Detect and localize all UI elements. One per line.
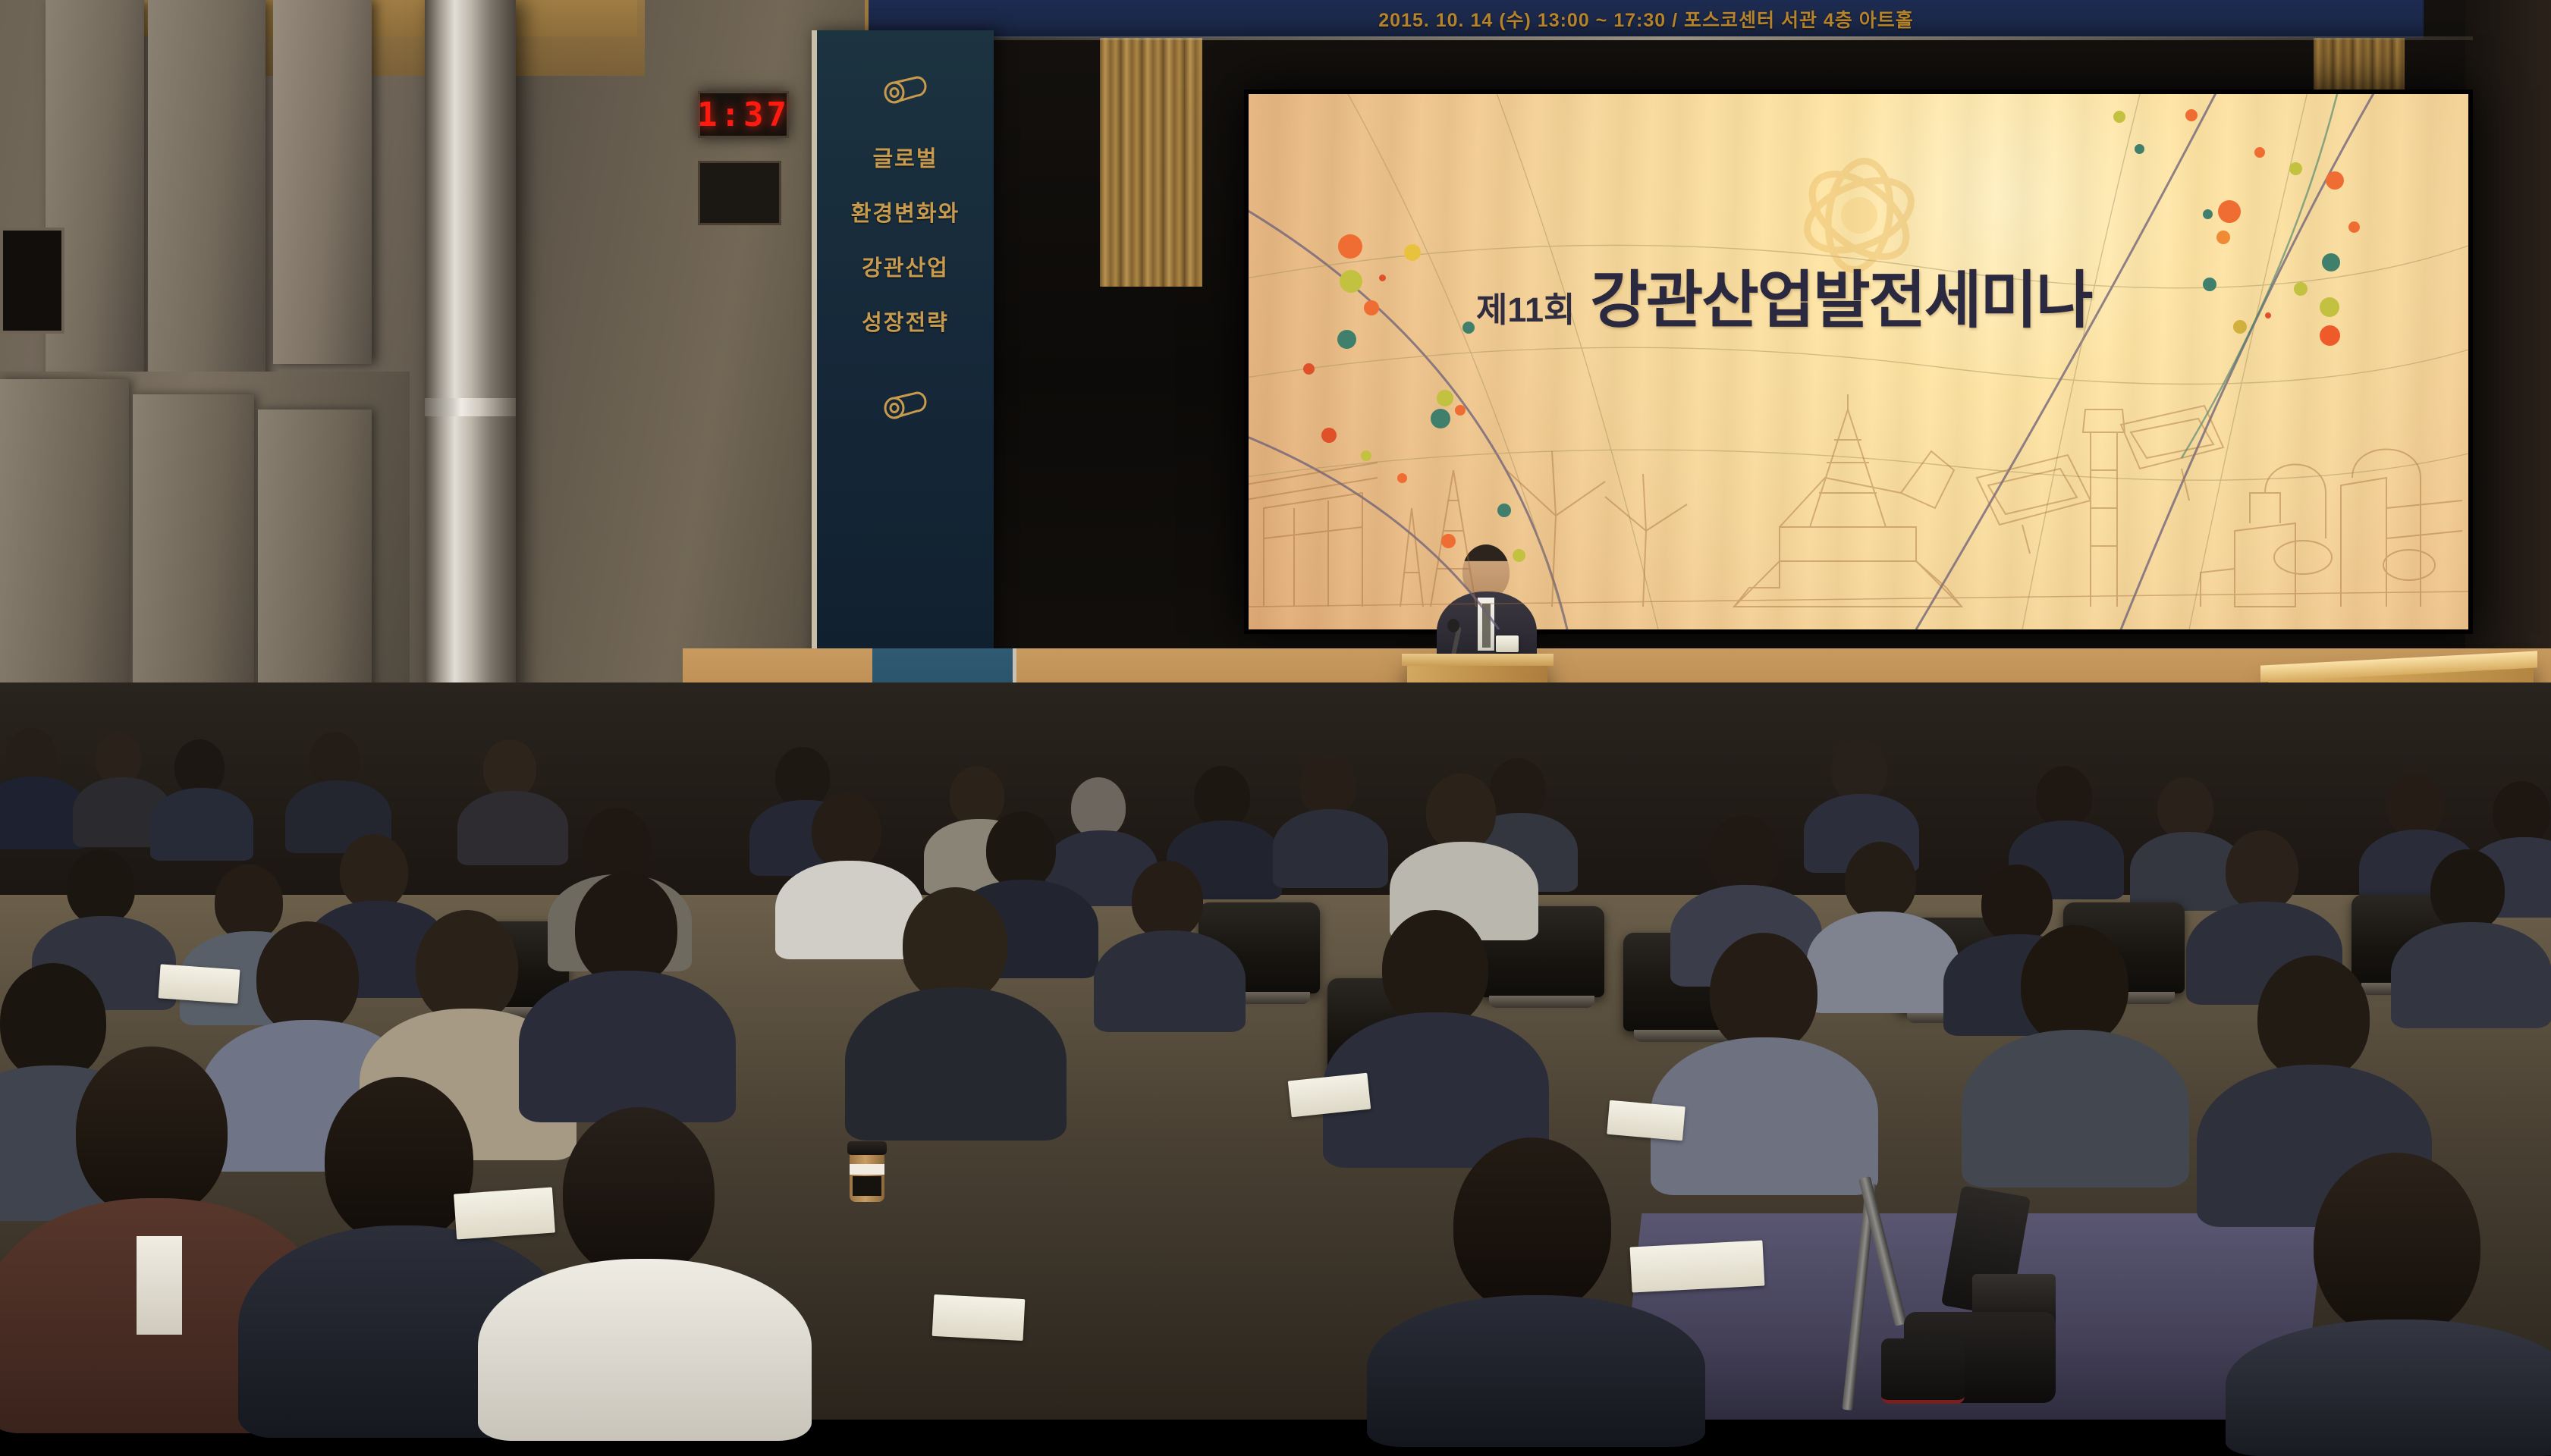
- decor-dot: [2326, 171, 2344, 190]
- attendee-foreground: [1403, 1137, 1661, 1426]
- decor-dot: [2289, 162, 2302, 175]
- attendee-head: [309, 732, 360, 788]
- attendee-head: [76, 1046, 228, 1217]
- decor-dot: [1338, 234, 1362, 259]
- decor-dot: [2320, 325, 2340, 346]
- vbanner-line-1: 글로벌: [872, 141, 938, 173]
- attendee-head: [416, 910, 518, 1024]
- cup-lid: [847, 1141, 887, 1155]
- decor-dot: [1462, 322, 1475, 334]
- decor-dot: [2233, 320, 2247, 334]
- attendee-torso: [1273, 809, 1388, 888]
- attendee-foreground: [516, 1107, 766, 1426]
- auditorium-scene: 1:37 2015. 10. 14 (수) 13:00 ~ 17:30 / 포스…: [0, 0, 2551, 1420]
- attendee-head: [2493, 781, 2550, 845]
- attendee-head: [812, 792, 881, 870]
- attendee-head: [1453, 1137, 1611, 1313]
- attendee-head: [2386, 773, 2444, 837]
- attendee-head: [986, 811, 1056, 889]
- dslr-camera[interactable]: [1881, 1183, 2071, 1410]
- overhead-event-banner: 2015. 10. 14 (수) 13:00 ~ 17:30 / 포스코센터 서…: [869, 0, 2424, 38]
- attendee-head: [1845, 842, 1916, 921]
- decor-dot: [2294, 282, 2308, 296]
- seminar-handout[interactable]: [159, 964, 240, 1003]
- decor-dot: [1404, 244, 1421, 261]
- attendee: [872, 887, 1039, 1134]
- decor-dot: [1303, 363, 1315, 375]
- attendee-torso: [1962, 1030, 2189, 1188]
- vertical-theme-banner: 글로벌 환경변화와 강관산업 성장전략: [812, 30, 994, 690]
- decor-dot: [1397, 473, 1407, 483]
- attendee-head: [903, 887, 1007, 1003]
- attendee-torso: [457, 791, 568, 865]
- decor-dot: [2218, 200, 2241, 223]
- attendee-torso: [1367, 1295, 1705, 1447]
- attendee-torso: [1651, 1037, 1878, 1195]
- projection-screen-frame: 제11회 강관산업발전세미나: [1244, 89, 2473, 634]
- attendee: [83, 732, 159, 842]
- decor-dot: [2254, 147, 2265, 158]
- acoustic-panel: [273, 0, 372, 364]
- attendee: [1282, 755, 1377, 880]
- decor-dot: [1455, 405, 1466, 416]
- screen-title-group: 제11회 강관산업발전세미나: [1476, 249, 2091, 340]
- attendee-head: [2226, 830, 2298, 911]
- decor-dot: [2135, 144, 2144, 154]
- decor-dot: [1513, 549, 1525, 562]
- decor-dot: [1379, 275, 1386, 281]
- decorative-dot-cluster: [1249, 94, 2468, 629]
- attendee-head: [1300, 755, 1356, 817]
- attendee-torso: [845, 987, 1067, 1141]
- steel-pipe-icon: [882, 74, 929, 105]
- decor-dot: [2216, 231, 2230, 244]
- attendee-head: [325, 1077, 473, 1244]
- steel-pipe-icon: [882, 390, 929, 420]
- timer-lower-panel: [698, 161, 781, 225]
- attendee-head: [256, 921, 359, 1035]
- decor-dot: [1431, 409, 1450, 428]
- camera-lens: [1881, 1338, 1965, 1404]
- attendee: [1107, 861, 1229, 1024]
- attendee: [1403, 773, 1521, 933]
- attendee: [2405, 849, 2534, 1020]
- decor-dot: [2322, 253, 2340, 271]
- decor-dot: [2203, 209, 2213, 219]
- attendee-head: [2430, 849, 2505, 931]
- attendee-head: [1194, 766, 1250, 828]
- decor-dot: [1437, 390, 1453, 406]
- seminar-handout[interactable]: [1630, 1240, 1765, 1292]
- attendee-head: [563, 1107, 715, 1278]
- attendee-torso: [519, 971, 736, 1122]
- acoustic-panel: [148, 0, 265, 413]
- decor-dot: [2203, 278, 2216, 291]
- cup-band: [850, 1164, 884, 1175]
- decor-dot: [1340, 270, 1362, 293]
- attendee-torso: [478, 1259, 812, 1441]
- right-wall: [2465, 0, 2551, 758]
- column-band: [425, 398, 516, 416]
- name-badge: [1496, 635, 1519, 652]
- decor-dot: [2348, 221, 2360, 233]
- attendee-shirt: [137, 1236, 182, 1335]
- seminar-handout[interactable]: [1607, 1100, 1685, 1141]
- attendee-head: [2036, 766, 2092, 828]
- decor-dot: [2185, 109, 2198, 121]
- decor-dot: [1441, 534, 1456, 548]
- vbanner-line-2: 환경변화와: [851, 196, 960, 227]
- attendee: [296, 732, 379, 846]
- attendee-torso: [1094, 930, 1246, 1032]
- attendee: [0, 728, 76, 842]
- decor-dot: [2113, 111, 2125, 123]
- attendee-torso: [2226, 1319, 2551, 1456]
- attendee-head: [1831, 739, 1887, 802]
- banner-edge-trim: [865, 36, 2473, 40]
- decor-dot: [1321, 428, 1337, 443]
- timer-digits: 1:37: [697, 96, 790, 134]
- attendee: [1987, 925, 2162, 1179]
- seminar-handout[interactable]: [932, 1294, 1026, 1341]
- attendee: [1676, 933, 1851, 1187]
- decor-dot: [1364, 300, 1379, 315]
- acoustic-panel: [46, 0, 144, 394]
- attendee-head: [67, 849, 135, 925]
- attendee-head: [2021, 925, 2128, 1045]
- vbanner-line-3: 강관산업: [862, 250, 949, 282]
- countdown-timer: 1:37: [698, 91, 789, 138]
- seminar-handout[interactable]: [454, 1188, 555, 1240]
- attendee-head: [174, 739, 225, 795]
- attendee-torso: [150, 788, 253, 861]
- banner-text: 2015. 10. 14 (수) 13:00 ~ 17:30 / 포스코센터 서…: [1378, 5, 1914, 33]
- vbanner-line-4: 성장전략: [862, 305, 949, 337]
- stage-curtain-left: [1100, 36, 1202, 287]
- decor-dot: [2265, 312, 2271, 318]
- attendee-head: [575, 872, 677, 986]
- wall-vent: [0, 227, 64, 334]
- attendee-head: [1426, 773, 1496, 851]
- attendee-torso: [2391, 922, 2551, 1028]
- attendee-head: [2314, 1153, 2480, 1338]
- screen-title-main: 강관산업발전세미나: [1590, 249, 2091, 340]
- decor-dot: [1337, 330, 1356, 349]
- attendee: [1350, 910, 1521, 1160]
- attendee-head: [1382, 910, 1488, 1028]
- attendee-head: [1708, 815, 1780, 894]
- cup-label: [853, 1176, 881, 1196]
- attendee: [546, 872, 709, 1115]
- attendee-head: [340, 834, 408, 910]
- attendee: [159, 739, 243, 853]
- attendee: [467, 739, 558, 857]
- decor-dot: [2320, 297, 2339, 317]
- attendee-head: [1132, 861, 1203, 940]
- screen-title-prefix: 제11회: [1476, 282, 1575, 331]
- decor-dot: [1361, 450, 1371, 461]
- attendee-head: [1710, 933, 1817, 1053]
- attendee-foreground: [2260, 1153, 2534, 1426]
- attendee-head: [6, 728, 56, 784]
- coffee-cup[interactable]: [850, 1147, 884, 1202]
- podium-top-surface: [1402, 654, 1554, 666]
- projection-screen: 제11회 강관산업발전세미나: [1249, 94, 2468, 629]
- decor-dot: [1497, 504, 1511, 517]
- attendee-head: [2257, 955, 2370, 1080]
- attendee-head: [483, 739, 536, 799]
